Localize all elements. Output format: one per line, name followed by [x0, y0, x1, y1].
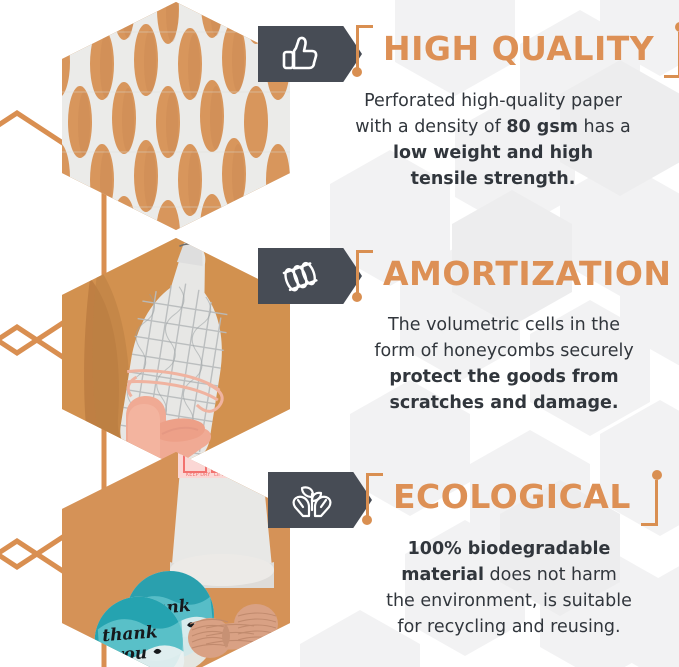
icon-badge-ecological: [268, 472, 372, 528]
icon-badge-amortization: [258, 248, 362, 304]
bracket-left-ecological: [362, 466, 384, 526]
section-heading-high-quality: HIGH QUALITY: [374, 32, 663, 65]
heading-group-amortization: AMORTIZATION: [352, 243, 679, 303]
feature-sections: HIGH QUALITY Perforated high-quality pap…: [0, 0, 679, 667]
icon-badge-high-quality: [258, 26, 362, 82]
section-heading-amortization: AMORTIZATION: [374, 257, 679, 290]
section-body-high-quality: Perforated high-quality paperwith a dens…: [320, 88, 666, 192]
bracket-left-amortization: [352, 243, 374, 303]
thumbs-up-icon: [280, 35, 320, 73]
heading-group-ecological: ECOLOGICAL: [362, 466, 662, 526]
section-heading-ecological: ECOLOGICAL: [384, 480, 640, 513]
section-body-ecological: 100% biodegradablematerial does not harm…: [350, 536, 668, 640]
bracket-right-ecological: [640, 466, 662, 526]
bracket-right-high-quality: [663, 18, 679, 78]
bracket-left-high-quality: [352, 18, 374, 78]
hands-holding-plant-icon: [290, 480, 334, 520]
section-body-amortization: The volumetric cells in theform of honey…: [340, 312, 668, 416]
infographic-canvas: KEEP DRY LIFT HERE: [0, 0, 679, 667]
heading-group-high-quality: HIGH QUALITY: [352, 18, 679, 78]
spring-coil-icon: [280, 258, 324, 294]
